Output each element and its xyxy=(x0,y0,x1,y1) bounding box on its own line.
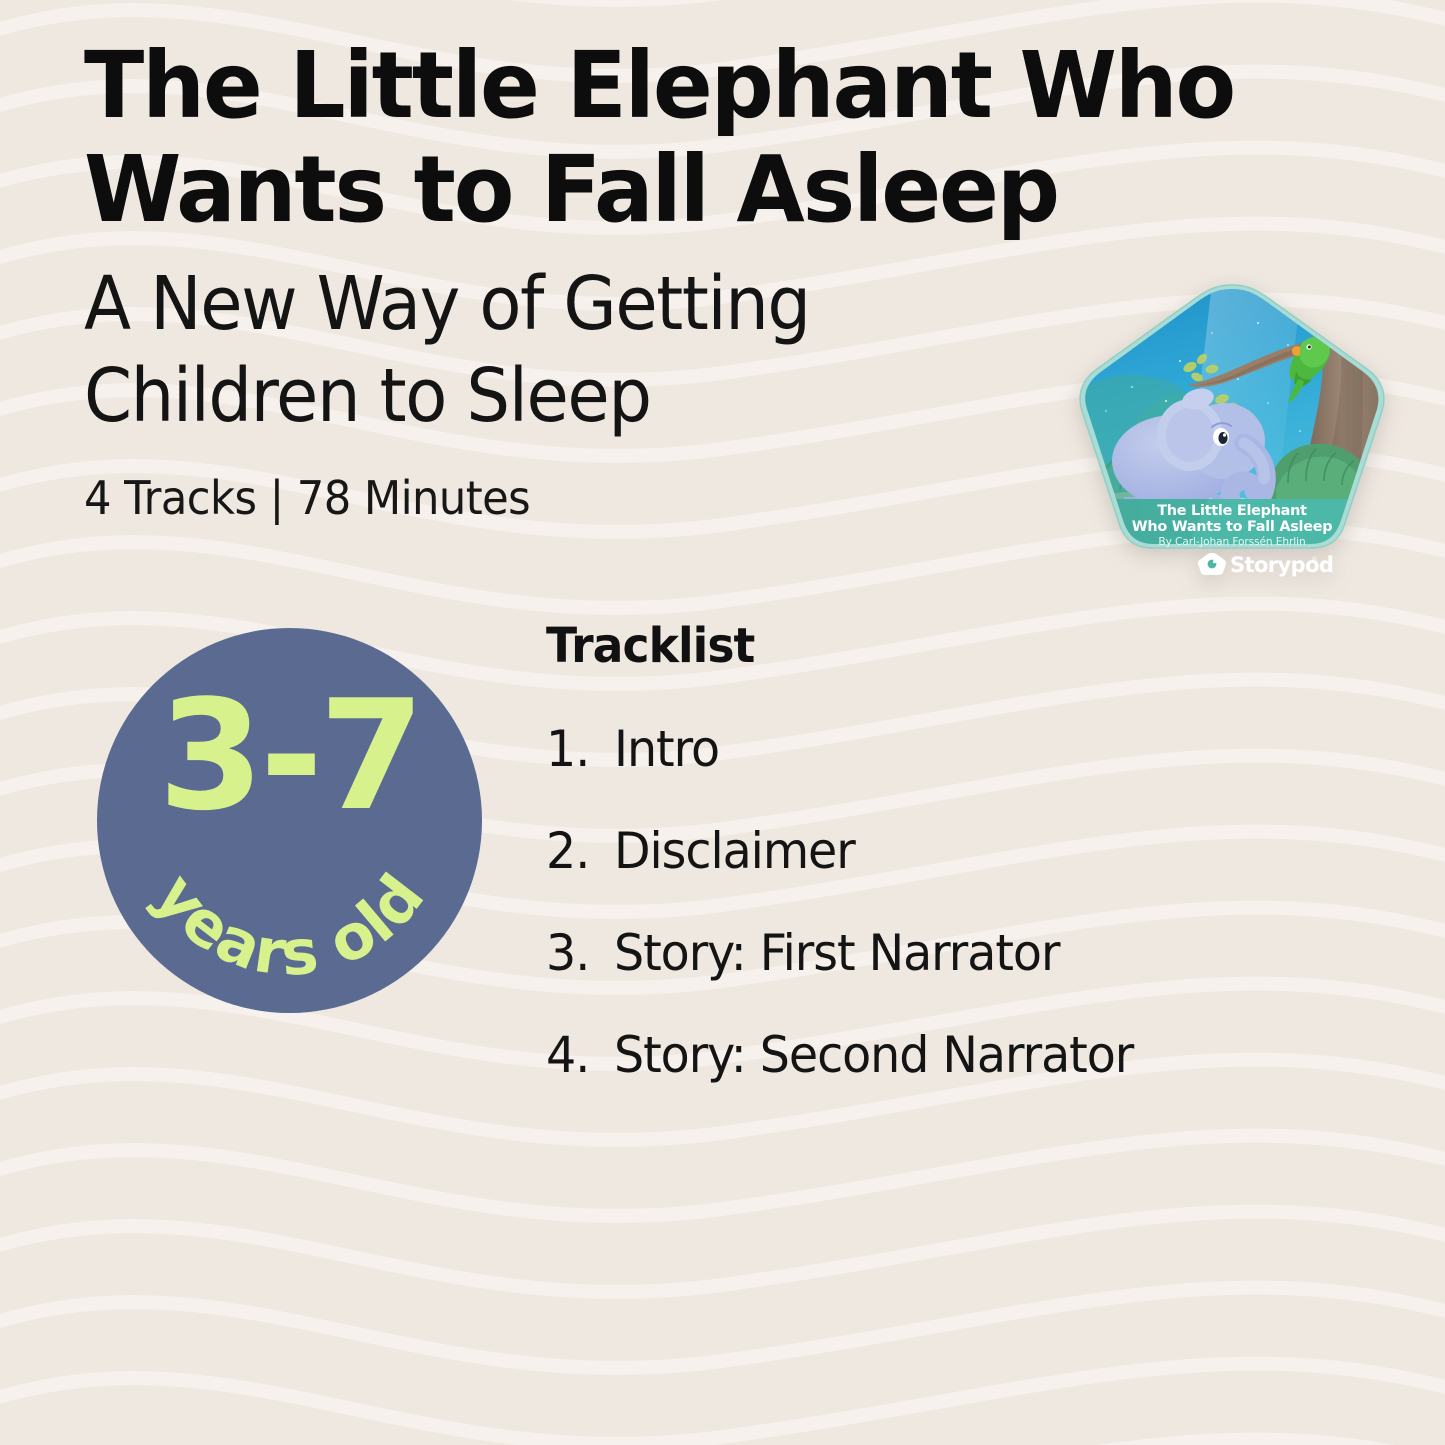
track-number: 2. xyxy=(546,822,611,880)
tracklist-block: Tracklist 1. Intro 2. Disclaimer 3. Stor… xyxy=(546,618,1161,1084)
list-item: 2. Disclaimer xyxy=(546,822,1161,880)
age-arc-label: years old xyxy=(97,628,482,1013)
card-title-line-2: Who Wants to Fall Asleep xyxy=(1132,519,1333,535)
track-title: Story: Second Narrator xyxy=(614,1026,1133,1084)
track-number: 4. xyxy=(546,1026,611,1084)
flower-icon xyxy=(1095,479,1107,509)
page-title-line-1: The Little Elephant Who xyxy=(84,34,1342,138)
track-title: Disclaimer xyxy=(614,822,855,880)
card-author: By Carl-Johan Forssén Ehrlin xyxy=(1158,536,1305,548)
storypod-brand-text: Storypod xyxy=(1230,553,1333,577)
product-info-card: The Little Elephant Who Wants to Fall As… xyxy=(0,0,1445,1445)
track-title: Intro xyxy=(614,720,719,778)
storypod-card-artwork: Illus. © 2015 Ehrlin Publishing AB. © 20… xyxy=(1062,283,1402,623)
track-title: Story: First Narrator xyxy=(614,924,1059,982)
storypod-logo: Storypod ® xyxy=(1198,553,1333,577)
registered-mark: ® xyxy=(1312,556,1318,564)
svg-text:years old: years old xyxy=(140,860,439,990)
tracklist-heading: Tracklist xyxy=(546,618,1130,674)
list-item: 1. Intro xyxy=(546,720,1161,778)
list-item: 3. Story: First Narrator xyxy=(546,924,1161,982)
list-item: 4. Story: Second Narrator xyxy=(546,1026,1161,1084)
age-range-badge: 3-7 years old xyxy=(97,628,482,1013)
track-number: 1. xyxy=(546,720,611,778)
age-arc-text: years old xyxy=(140,860,439,990)
page-title-line-2: Wants to Fall Asleep xyxy=(84,138,1342,242)
card-title-line-1: The Little Elephant xyxy=(1157,503,1307,519)
track-number: 3. xyxy=(546,924,611,982)
